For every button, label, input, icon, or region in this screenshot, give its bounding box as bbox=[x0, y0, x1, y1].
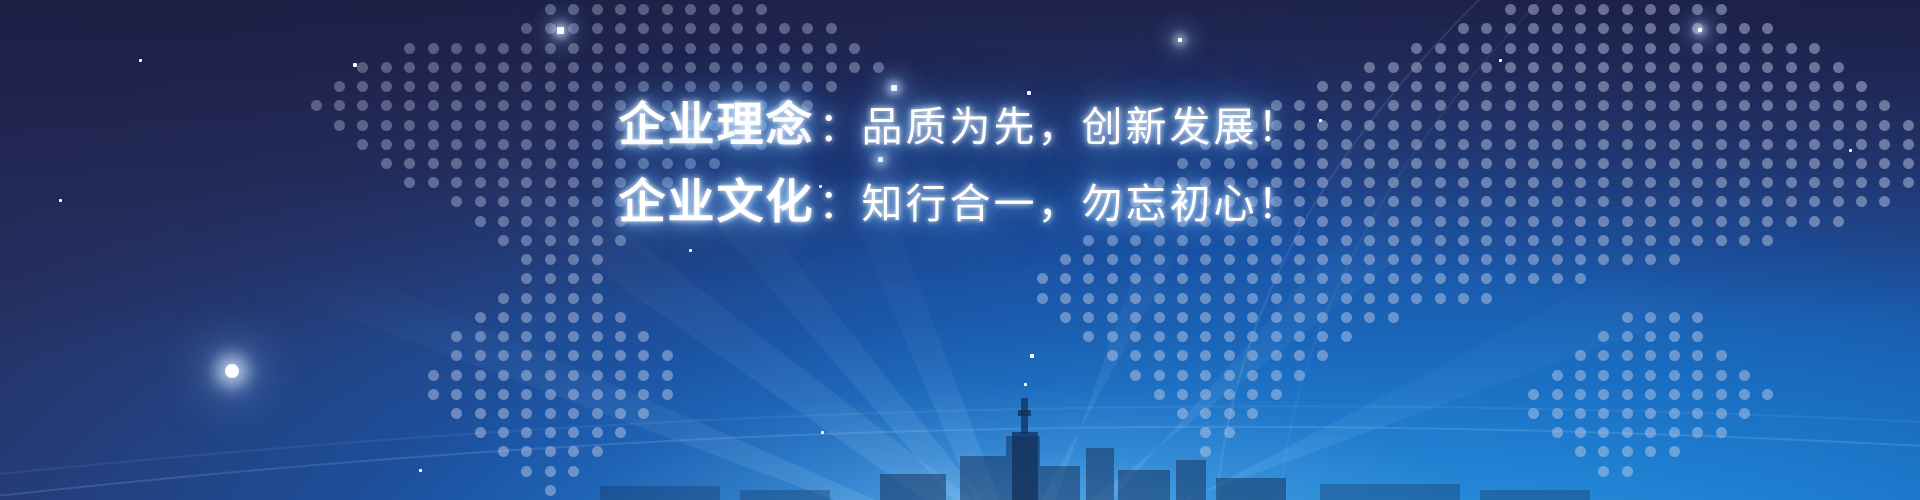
map-dot bbox=[615, 43, 626, 54]
map-dot bbox=[1645, 312, 1656, 323]
map-dot bbox=[1364, 273, 1375, 284]
city-skyline-silhouette bbox=[0, 370, 1920, 500]
map-dot bbox=[709, 4, 720, 15]
map-dot bbox=[1271, 350, 1282, 361]
map-dot bbox=[545, 273, 556, 284]
map-dot bbox=[451, 331, 462, 342]
map-dot bbox=[1481, 293, 1492, 304]
map-dot bbox=[826, 43, 837, 54]
map-dot bbox=[568, 43, 579, 54]
map-dot bbox=[1177, 293, 1188, 304]
map-dot bbox=[1224, 254, 1235, 265]
map-dot bbox=[709, 62, 720, 73]
map-dot bbox=[873, 62, 884, 73]
map-dot bbox=[1247, 350, 1258, 361]
map-dot bbox=[1552, 43, 1563, 54]
map-dot bbox=[1130, 331, 1141, 342]
map-dot bbox=[1247, 273, 1258, 284]
map-dot bbox=[1669, 350, 1680, 361]
corporate-culture-banner: 企业理念：品质为先，创新发展！ 企业文化：知行合一，勿忘初心！ bbox=[0, 0, 1920, 500]
map-dot bbox=[1294, 331, 1305, 342]
map-dot bbox=[1294, 350, 1305, 361]
map-dot bbox=[1317, 273, 1328, 284]
map-dot bbox=[568, 254, 579, 265]
map-dot bbox=[1154, 254, 1165, 265]
star-icon bbox=[353, 63, 357, 67]
map-dot bbox=[1083, 312, 1094, 323]
map-dot bbox=[732, 81, 743, 92]
map-dot bbox=[1271, 254, 1282, 265]
map-dot bbox=[498, 350, 509, 361]
map-dot bbox=[1107, 312, 1118, 323]
map-dot bbox=[404, 62, 415, 73]
map-dot bbox=[826, 23, 837, 34]
line-culture: 企业文化：知行合一，勿忘初心！ bbox=[0, 179, 1920, 226]
map-dot bbox=[1645, 4, 1656, 15]
map-dot bbox=[1271, 312, 1282, 323]
map-dot bbox=[1341, 331, 1352, 342]
map-dot bbox=[615, 312, 626, 323]
map-dot bbox=[1411, 254, 1422, 265]
map-dot bbox=[498, 312, 509, 323]
map-dot bbox=[662, 43, 673, 54]
map-dot bbox=[615, 350, 626, 361]
map-dot bbox=[1669, 81, 1680, 92]
map-dot bbox=[1575, 273, 1586, 284]
map-dot bbox=[568, 312, 579, 323]
map-dot bbox=[1317, 350, 1328, 361]
map-dot bbox=[1247, 331, 1258, 342]
map-dot bbox=[1598, 331, 1609, 342]
map-dot bbox=[732, 4, 743, 15]
map-dot bbox=[545, 4, 556, 15]
map-dot bbox=[1037, 273, 1048, 284]
map-dot bbox=[451, 350, 462, 361]
map-dot bbox=[1130, 235, 1141, 246]
map-dot bbox=[521, 273, 532, 284]
map-dot bbox=[1224, 293, 1235, 304]
map-dot bbox=[521, 43, 532, 54]
map-dot bbox=[1083, 273, 1094, 284]
map-dot bbox=[1294, 254, 1305, 265]
map-dot bbox=[1154, 312, 1165, 323]
map-dot bbox=[1575, 23, 1586, 34]
map-dot bbox=[357, 81, 368, 92]
map-dot bbox=[1669, 235, 1680, 246]
map-dot bbox=[802, 43, 813, 54]
map-dot bbox=[802, 62, 813, 73]
map-dot bbox=[475, 312, 486, 323]
map-dot bbox=[1341, 254, 1352, 265]
map-dot bbox=[475, 81, 486, 92]
map-dot bbox=[1669, 254, 1680, 265]
map-dot bbox=[451, 43, 462, 54]
map-dot bbox=[592, 235, 603, 246]
map-dot bbox=[1528, 254, 1539, 265]
map-dot bbox=[521, 62, 532, 73]
map-dot bbox=[638, 43, 649, 54]
map-dot bbox=[732, 43, 743, 54]
map-dot bbox=[592, 293, 603, 304]
map-dot bbox=[592, 23, 603, 34]
map-dot bbox=[1669, 23, 1680, 34]
map-dot bbox=[1528, 4, 1539, 15]
map-dot bbox=[1645, 62, 1656, 73]
star-icon bbox=[689, 249, 692, 252]
map-dot bbox=[1575, 43, 1586, 54]
map-dot bbox=[779, 23, 790, 34]
map-dot bbox=[1154, 331, 1165, 342]
map-dot bbox=[1762, 62, 1773, 73]
map-dot bbox=[1435, 254, 1446, 265]
map-dot bbox=[802, 23, 813, 34]
star-icon bbox=[557, 27, 564, 34]
star-icon bbox=[1027, 91, 1031, 95]
map-dot bbox=[1271, 273, 1282, 284]
map-dot bbox=[545, 81, 556, 92]
map-dot bbox=[1130, 312, 1141, 323]
map-dot bbox=[1317, 312, 1328, 323]
map-dot bbox=[1481, 273, 1492, 284]
map-dot bbox=[521, 350, 532, 361]
map-dot bbox=[1833, 81, 1844, 92]
map-dot bbox=[1458, 62, 1469, 73]
map-dot bbox=[381, 62, 392, 73]
map-dot bbox=[1107, 331, 1118, 342]
map-dot bbox=[615, 235, 626, 246]
map-dot bbox=[1364, 254, 1375, 265]
map-dot bbox=[1505, 273, 1516, 284]
map-dot bbox=[638, 4, 649, 15]
map-dot bbox=[1107, 273, 1118, 284]
map-dot bbox=[1247, 293, 1258, 304]
map-dot bbox=[709, 81, 720, 92]
map-dot bbox=[592, 81, 603, 92]
map-dot bbox=[1224, 331, 1235, 342]
map-dot bbox=[1435, 293, 1446, 304]
map-dot bbox=[1177, 312, 1188, 323]
map-dot bbox=[1037, 293, 1048, 304]
philosophy-separator: ： bbox=[815, 103, 862, 151]
map-dot bbox=[568, 293, 579, 304]
map-dot bbox=[592, 312, 603, 323]
map-dot bbox=[1598, 23, 1609, 34]
map-dot bbox=[568, 273, 579, 284]
map-dot bbox=[1739, 43, 1750, 54]
map-dot bbox=[1622, 331, 1633, 342]
map-dot bbox=[1200, 254, 1211, 265]
map-dot bbox=[1716, 81, 1727, 92]
map-dot bbox=[1598, 350, 1609, 361]
map-dot bbox=[1177, 331, 1188, 342]
map-dot bbox=[1669, 4, 1680, 15]
map-dot bbox=[1177, 254, 1188, 265]
map-dot bbox=[662, 81, 673, 92]
culture-label: 企业文化 bbox=[619, 175, 815, 230]
map-dot bbox=[451, 81, 462, 92]
map-dot bbox=[1716, 235, 1727, 246]
map-dot bbox=[685, 43, 696, 54]
map-dot bbox=[1622, 254, 1633, 265]
map-dot bbox=[662, 62, 673, 73]
map-dot bbox=[1130, 273, 1141, 284]
line-philosophy: 企业理念：品质为先，创新发展！ bbox=[0, 102, 1920, 149]
map-dot bbox=[1598, 81, 1609, 92]
star-icon bbox=[139, 59, 142, 62]
map-dot bbox=[1622, 4, 1633, 15]
map-dot bbox=[1458, 43, 1469, 54]
map-dot bbox=[1224, 312, 1235, 323]
map-dot bbox=[615, 23, 626, 34]
map-dot bbox=[1552, 235, 1563, 246]
map-dot bbox=[1200, 273, 1211, 284]
map-dot bbox=[756, 43, 767, 54]
map-dot bbox=[1692, 331, 1703, 342]
map-dot bbox=[1528, 23, 1539, 34]
map-dot bbox=[1552, 81, 1563, 92]
map-dot bbox=[1107, 350, 1118, 361]
map-dot bbox=[1505, 235, 1516, 246]
map-dot bbox=[756, 4, 767, 15]
map-dot bbox=[1575, 350, 1586, 361]
map-dot bbox=[849, 43, 860, 54]
map-dot bbox=[1388, 254, 1399, 265]
map-dot bbox=[1669, 43, 1680, 54]
map-dot bbox=[1739, 81, 1750, 92]
map-dot bbox=[1645, 350, 1656, 361]
map-dot bbox=[1575, 81, 1586, 92]
map-dot bbox=[1435, 43, 1446, 54]
map-dot bbox=[1692, 62, 1703, 73]
culture-value: 知行合一，勿忘初心！ bbox=[862, 180, 1302, 228]
map-dot bbox=[521, 312, 532, 323]
map-dot bbox=[638, 331, 649, 342]
map-dot bbox=[1481, 23, 1492, 34]
map-dot bbox=[1856, 81, 1867, 92]
map-dot bbox=[475, 350, 486, 361]
map-dot bbox=[1107, 254, 1118, 265]
map-dot bbox=[662, 350, 673, 361]
map-dot bbox=[1458, 293, 1469, 304]
map-dot bbox=[826, 62, 837, 73]
map-dot bbox=[404, 81, 415, 92]
map-dot bbox=[545, 312, 556, 323]
map-dot bbox=[1739, 62, 1750, 73]
map-dot bbox=[685, 4, 696, 15]
map-dot bbox=[1247, 254, 1258, 265]
map-dot bbox=[568, 235, 579, 246]
map-dot bbox=[1598, 4, 1609, 15]
map-dot bbox=[1435, 81, 1446, 92]
map-dot bbox=[1528, 81, 1539, 92]
map-dot bbox=[779, 43, 790, 54]
map-dot bbox=[1177, 235, 1188, 246]
map-dot bbox=[779, 81, 790, 92]
map-dot bbox=[1435, 273, 1446, 284]
map-dot bbox=[1622, 62, 1633, 73]
map-dot bbox=[1786, 43, 1797, 54]
map-dot bbox=[1200, 331, 1211, 342]
culture-text-block: 企业理念：品质为先，创新发展！ 企业文化：知行合一，勿忘初心！ bbox=[0, 102, 1920, 226]
map-dot bbox=[1364, 293, 1375, 304]
map-dot bbox=[1622, 43, 1633, 54]
map-dot bbox=[1317, 293, 1328, 304]
map-dot bbox=[404, 43, 415, 54]
map-dot bbox=[732, 23, 743, 34]
map-dot bbox=[1809, 62, 1820, 73]
map-dot bbox=[498, 81, 509, 92]
star-icon bbox=[1030, 354, 1034, 358]
map-dot bbox=[1552, 273, 1563, 284]
map-dot bbox=[1224, 235, 1235, 246]
map-dot bbox=[1317, 81, 1328, 92]
map-dot bbox=[1130, 350, 1141, 361]
map-dot bbox=[1575, 4, 1586, 15]
map-dot bbox=[1575, 254, 1586, 265]
map-dot bbox=[1622, 312, 1633, 323]
map-dot bbox=[592, 4, 603, 15]
map-dot bbox=[1692, 312, 1703, 323]
map-dot bbox=[1786, 62, 1797, 73]
map-dot bbox=[1200, 235, 1211, 246]
map-dot bbox=[1388, 62, 1399, 73]
map-dot bbox=[1130, 254, 1141, 265]
map-dot bbox=[1528, 235, 1539, 246]
map-dot bbox=[1388, 235, 1399, 246]
map-dot bbox=[1575, 62, 1586, 73]
map-dot bbox=[685, 81, 696, 92]
map-dot bbox=[1762, 235, 1773, 246]
map-dot bbox=[1786, 81, 1797, 92]
map-dot bbox=[1762, 43, 1773, 54]
map-dot bbox=[732, 62, 743, 73]
map-dot bbox=[1716, 43, 1727, 54]
map-dot bbox=[1669, 312, 1680, 323]
map-dot bbox=[1481, 235, 1492, 246]
map-dot bbox=[521, 331, 532, 342]
map-dot bbox=[685, 62, 696, 73]
map-dot bbox=[521, 235, 532, 246]
star-icon bbox=[891, 85, 897, 91]
map-dot bbox=[1505, 43, 1516, 54]
map-dot bbox=[638, 81, 649, 92]
map-dot bbox=[1669, 62, 1680, 73]
map-dot bbox=[521, 293, 532, 304]
map-dot bbox=[1411, 235, 1422, 246]
map-dot bbox=[568, 331, 579, 342]
map-dot bbox=[1411, 293, 1422, 304]
map-dot bbox=[1622, 23, 1633, 34]
culture-separator: ： bbox=[815, 180, 862, 228]
map-dot bbox=[545, 62, 556, 73]
map-dot bbox=[1177, 273, 1188, 284]
map-dot bbox=[1716, 350, 1727, 361]
map-dot bbox=[1692, 81, 1703, 92]
map-dot bbox=[1154, 350, 1165, 361]
map-dot bbox=[1622, 235, 1633, 246]
map-dot bbox=[521, 254, 532, 265]
map-dot bbox=[1528, 62, 1539, 73]
map-dot bbox=[1739, 235, 1750, 246]
map-dot bbox=[1505, 62, 1516, 73]
map-dot bbox=[1083, 331, 1094, 342]
star-icon bbox=[1698, 28, 1702, 32]
map-dot bbox=[568, 62, 579, 73]
map-dot bbox=[1481, 254, 1492, 265]
map-dot bbox=[1552, 62, 1563, 73]
map-dot bbox=[428, 62, 439, 73]
map-dot bbox=[1341, 81, 1352, 92]
map-dot bbox=[1177, 350, 1188, 361]
map-dot bbox=[1341, 293, 1352, 304]
map-dot bbox=[1528, 43, 1539, 54]
map-dot bbox=[475, 43, 486, 54]
star-icon bbox=[1178, 38, 1182, 42]
map-dot bbox=[1435, 235, 1446, 246]
map-dot bbox=[1481, 81, 1492, 92]
map-dot bbox=[1364, 62, 1375, 73]
map-dot bbox=[685, 23, 696, 34]
map-dot bbox=[592, 254, 603, 265]
map-dot bbox=[1317, 235, 1328, 246]
map-dot bbox=[1200, 350, 1211, 361]
map-dot bbox=[638, 23, 649, 34]
map-dot bbox=[592, 273, 603, 284]
map-dot bbox=[498, 293, 509, 304]
map-dot bbox=[826, 81, 837, 92]
map-dot bbox=[1739, 23, 1750, 34]
map-dot bbox=[662, 23, 673, 34]
map-dot bbox=[1692, 43, 1703, 54]
map-dot bbox=[1716, 4, 1727, 15]
map-dot bbox=[1598, 62, 1609, 73]
map-dot bbox=[756, 81, 767, 92]
map-dot bbox=[1388, 81, 1399, 92]
map-dot bbox=[1762, 81, 1773, 92]
map-dot bbox=[1130, 293, 1141, 304]
map-dot bbox=[615, 62, 626, 73]
map-dot bbox=[1060, 273, 1071, 284]
map-dot bbox=[1458, 235, 1469, 246]
map-dot bbox=[334, 81, 345, 92]
map-dot bbox=[849, 62, 860, 73]
map-dot bbox=[568, 4, 579, 15]
star-icon bbox=[1499, 59, 1502, 62]
map-dot bbox=[568, 23, 579, 34]
map-dot bbox=[1411, 62, 1422, 73]
map-dot bbox=[638, 62, 649, 73]
map-dot bbox=[1247, 312, 1258, 323]
map-dot bbox=[1552, 254, 1563, 265]
map-dot bbox=[1716, 62, 1727, 73]
map-dot bbox=[1528, 273, 1539, 284]
map-dot bbox=[615, 331, 626, 342]
map-dot bbox=[1060, 293, 1071, 304]
map-dot bbox=[1107, 293, 1118, 304]
map-dot bbox=[545, 350, 556, 361]
map-dot bbox=[1622, 350, 1633, 361]
map-dot bbox=[1341, 235, 1352, 246]
map-dot bbox=[568, 81, 579, 92]
map-dot bbox=[592, 331, 603, 342]
map-dot bbox=[1598, 43, 1609, 54]
map-dot bbox=[498, 331, 509, 342]
map-dot bbox=[1669, 331, 1680, 342]
map-dot bbox=[428, 81, 439, 92]
map-dot bbox=[1388, 273, 1399, 284]
map-dot bbox=[756, 23, 767, 34]
map-dot bbox=[1692, 4, 1703, 15]
